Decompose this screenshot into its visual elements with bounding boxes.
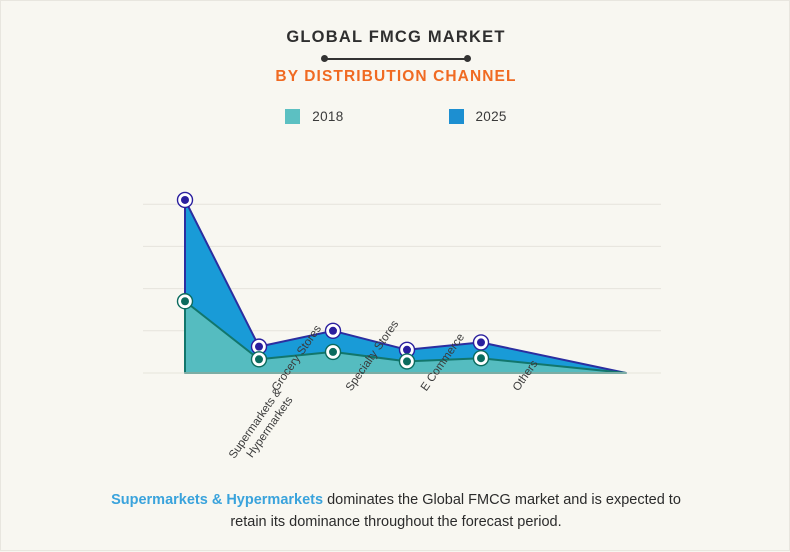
marker-core [403, 346, 411, 354]
marker-core [477, 354, 485, 362]
chart-canvas: GLOBAL FMCG MARKET BY DISTRIBUTION CHANN… [0, 0, 790, 551]
marker-core [181, 196, 189, 204]
chart-plot-area [1, 1, 790, 552]
footnote-highlight: Supermarkets & Hypermarkets [111, 492, 323, 508]
data-point-2018-2[interactable] [326, 344, 341, 359]
data-point-2018-0[interactable] [178, 294, 193, 309]
marker-core [477, 338, 485, 346]
data-point-2025-4[interactable] [474, 335, 489, 350]
data-point-2025-0[interactable] [178, 192, 193, 207]
marker-core [403, 357, 411, 365]
marker-core [181, 297, 189, 305]
chart-footnote: Supermarkets & Hypermarkets dominates th… [96, 489, 696, 533]
data-point-2025-2[interactable] [326, 323, 341, 338]
marker-core [329, 348, 337, 356]
data-point-2018-3[interactable] [400, 354, 415, 369]
data-point-2018-1[interactable] [252, 352, 267, 367]
marker-core [255, 343, 263, 351]
data-point-2018-4[interactable] [474, 351, 489, 366]
marker-core [329, 327, 337, 335]
marker-core [255, 355, 263, 363]
